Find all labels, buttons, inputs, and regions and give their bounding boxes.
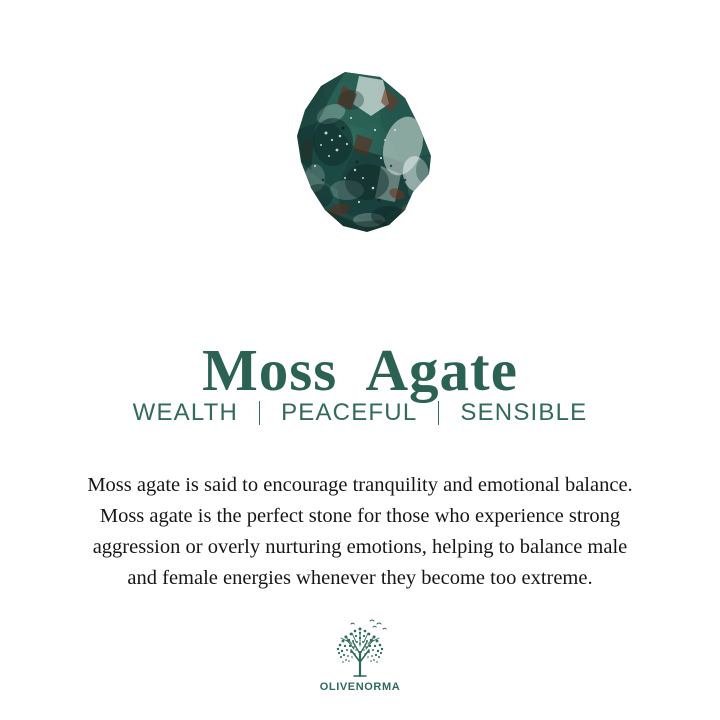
keyword-peaceful: PEACEFUL — [281, 399, 417, 427]
keyword-wealth: WEALTH — [133, 399, 238, 427]
page-title: Moss Agate — [0, 339, 720, 402]
keyword-list: WEALTH PEACEFUL SENSIBLE — [0, 399, 720, 427]
product-image-container — [0, 70, 720, 240]
keyword-separator — [438, 401, 439, 425]
brand-logo: OLIVENORMA — [0, 616, 720, 693]
keyword-separator — [259, 401, 260, 425]
description-text: Moss agate is said to encourage tranquil… — [30, 470, 690, 594]
brand-name: OLIVENORMA — [320, 681, 401, 693]
description-line: and female energies whenever they become… — [30, 563, 690, 594]
product-info-card: Moss Agate WEALTH PEACEFUL SENSIBLE Moss… — [0, 0, 720, 720]
description-line: Moss agate is said to encourage tranquil… — [30, 470, 690, 501]
keyword-sensible: SENSIBLE — [460, 399, 587, 427]
stone-body — [285, 70, 435, 235]
description-line: aggression or overly nurturing emotions,… — [30, 532, 690, 563]
description-line: Moss agate is the perfect stone for thos… — [30, 501, 690, 532]
moss-agate-stone-image — [285, 70, 435, 235]
tree-of-life-icon — [327, 616, 393, 678]
